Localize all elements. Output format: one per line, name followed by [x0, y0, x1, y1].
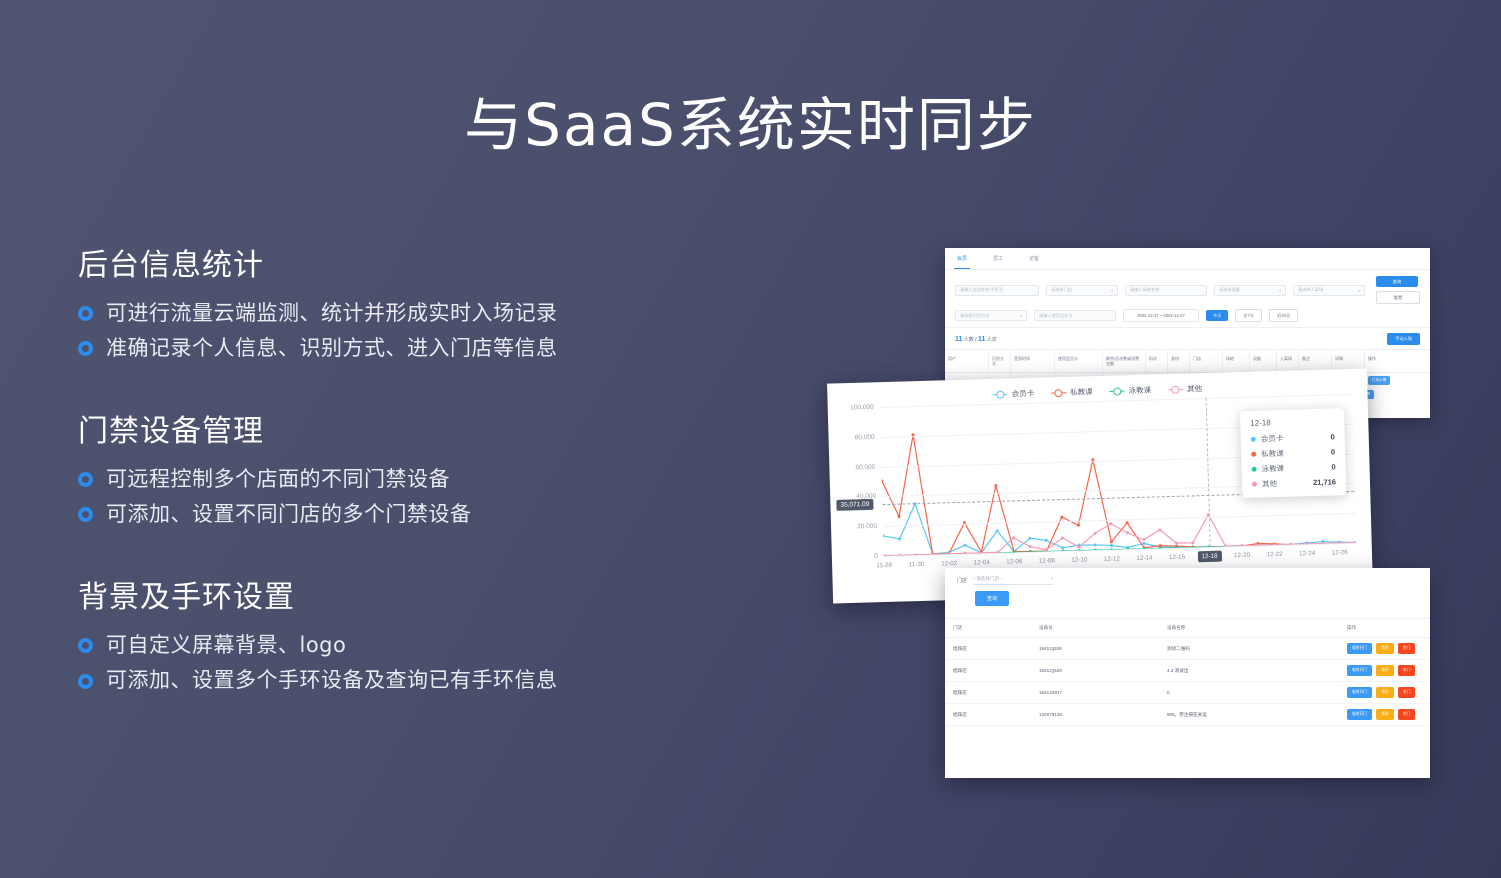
bullet-item: 可自定义屏幕背景、logo	[78, 634, 738, 657]
entry-exit-select[interactable]: 请选择入离场▾	[1293, 285, 1365, 296]
tooltip-label: 其他	[1262, 478, 1277, 489]
quick-range-30days[interactable]: 近30天	[1269, 309, 1298, 322]
close-door-button[interactable]: 关门	[1398, 709, 1416, 720]
legend-label: 泳教课	[1128, 385, 1151, 397]
x-axis-tick: 12-26	[1332, 549, 1348, 556]
col-store: 门店	[945, 619, 1031, 637]
cell-operation: 临时开门常开关门	[1339, 665, 1430, 676]
chart-plot-area: 020,00040,00060,00080,000100,000 35,071.…	[838, 394, 1363, 583]
x-axis-tick: 12-10	[1071, 556, 1087, 563]
series-point	[994, 484, 997, 487]
placeholder-text: 请选择设备	[1219, 287, 1240, 293]
entry-stats: 11 人数 / 11 人次	[955, 336, 997, 343]
device-select[interactable]: 请选择设备▾	[1214, 285, 1286, 296]
tooltip-value: 0	[1320, 432, 1334, 441]
tooltip-title: 12-18	[1250, 416, 1334, 427]
col-identity: 身份	[1168, 350, 1190, 372]
date-range-picker[interactable]: 2022-12-27 ~ 2022-12-27	[1123, 309, 1199, 322]
store-select[interactable]: 请选择门店▾	[1046, 285, 1118, 296]
filter-row-1: 请输入会员姓名/手机号 请选择门店▾ 请输入场地名称 请选择设备▾ 请选择入离场…	[955, 276, 1420, 304]
col-store: 门店	[1190, 350, 1223, 372]
col-deduct: 扣次	[1146, 350, 1168, 372]
placeholder-text: 请选择入离场	[1298, 287, 1323, 293]
always-open-button[interactable]: 常开	[1376, 665, 1394, 676]
tooltip-row: 私教课 0	[1251, 446, 1335, 459]
bullet-text: 可自定义屏幕背景、logo	[106, 634, 346, 657]
tab-visitors[interactable]: 访客	[1029, 248, 1039, 269]
legend-item-swim[interactable]: 泳教课	[1109, 385, 1151, 397]
tab-members[interactable]: 会员	[957, 248, 967, 269]
close-door-button[interactable]: 关门	[1398, 687, 1416, 698]
bullet-item: 准确记录个人信息、识别方式、进入门店等信息	[78, 337, 738, 360]
y-axis-tick: 20,000	[857, 523, 877, 531]
tooltip-row: 会员卡 0	[1251, 431, 1335, 444]
tab-staff[interactable]: 员工	[993, 248, 1003, 269]
bullet-item: 可进行流量云端监测、统计并形成实时入场记录	[78, 302, 738, 325]
legend-label: 其他	[1187, 383, 1202, 394]
placeholder-text: 请输入场地名称	[1130, 287, 1159, 293]
admin-stat-bar: 11 人数 / 11 人次 手动入场	[945, 328, 1430, 349]
y-axis-tick: 0	[874, 553, 878, 560]
cell-device-id: 19412ვ536	[1031, 646, 1159, 652]
ring-bullet-icon	[78, 341, 93, 356]
membership-card-input[interactable]: 请输入使用会员卡	[1034, 310, 1116, 321]
quick-range-7days[interactable]: 近7天	[1235, 309, 1262, 322]
venue-name-input[interactable]: 请输入场地名称	[1125, 285, 1207, 296]
cell-operation: 临时开门常开关门	[1339, 687, 1430, 698]
table-row: 旭辉店132979136908，原注册在关运临时开门常开关门	[945, 704, 1430, 726]
y-axis-tick: 100,000	[850, 404, 874, 412]
bullet-item: 可添加、设置不同门店的多个门禁设备	[78, 503, 738, 526]
filter-row-2: 请选择识别方式▾ 请输入使用会员卡 2022-12-27 ~ 2022-12-2…	[955, 309, 1420, 322]
tooltip-value: 21,716	[1303, 477, 1336, 487]
col-checkin-time: 签到时间	[1011, 350, 1055, 372]
tooltip-row: 泳教课 0	[1251, 461, 1335, 474]
table-row: 旭辉店1941239170临时开门常开关门	[945, 682, 1430, 704]
legend-item-pt[interactable]: 私教课	[1051, 386, 1093, 398]
bullet-text: 可添加、设置不同门店的多个门禁设备	[106, 503, 472, 526]
ring-bullet-icon	[78, 507, 93, 522]
legend-line-marker-icon	[1051, 388, 1066, 397]
series-dot-icon	[1252, 467, 1257, 472]
cell-device-name: 4.4 测试出	[1159, 668, 1339, 674]
x-axis-tick: 12-02	[941, 560, 957, 567]
placeholder-text: --请选择门店--	[973, 576, 1002, 582]
member-name-input[interactable]: 请输入会员姓名/手机号	[955, 285, 1039, 296]
placeholder-text: 请选择识别方式	[960, 313, 989, 319]
col-remaining: 剩余/总次数或消费金额	[1103, 350, 1146, 372]
ring-bullet-icon	[78, 674, 93, 689]
x-axis-tick: 12-20	[1234, 552, 1250, 559]
search-button[interactable]: 查询	[1376, 276, 1418, 287]
always-open-button[interactable]: 常开	[1376, 687, 1394, 698]
recognition-method-select[interactable]: 请选择识别方式▾	[955, 310, 1027, 321]
x-axis-tick: 12-24	[1299, 550, 1315, 557]
legend-label: 私教课	[1070, 386, 1093, 398]
tooltip-label: 私教课	[1261, 448, 1284, 460]
reset-button[interactable]: 重置	[1376, 291, 1420, 304]
feature-section-3: 背景及手环设置 可自定义屏幕背景、logo 可添加、设置多个手环设备及查询已有手…	[78, 572, 738, 692]
bullet-text: 可远程控制多个店面的不同门禁设备	[106, 468, 450, 491]
x-axis-tick: 12-22	[1266, 551, 1282, 558]
always-open-button[interactable]: 常开	[1376, 709, 1394, 720]
col-user: 用户	[945, 350, 989, 372]
cell-device-id: 194123917	[1031, 690, 1159, 695]
chart-tooltip: 12-18 会员卡 0 私教课 0 泳教课 0	[1240, 408, 1346, 498]
tooltip-label: 会员卡	[1261, 433, 1284, 445]
section-heading-1: 后台信息统计	[78, 240, 738, 284]
temp-open-button[interactable]: 临时开门	[1347, 709, 1372, 720]
ring-bullet-icon	[78, 306, 93, 321]
x-axis-tick: 12-08	[1039, 557, 1055, 564]
feature-section-1: 后台信息统计 可进行流量云端监测、统计并形成实时入场记录 准确记录个人信息、识别…	[78, 240, 738, 360]
feature-section-2: 门禁设备管理 可远程控制多个店面的不同门禁设备 可添加、设置不同门店的多个门禁设…	[78, 406, 738, 526]
bullet-item: 可添加、设置多个手环设备及查询已有手环信息	[78, 669, 738, 692]
series-dot-icon	[1252, 482, 1257, 487]
col-device-id: 设备号	[1031, 619, 1159, 637]
y-axis-tick: 80,000	[855, 434, 875, 442]
bullet-text: 可添加、设置多个手环设备及查询已有手环信息	[106, 669, 558, 692]
cell-store: 旭辉店	[945, 646, 1031, 652]
cell-store: 旭辉店	[945, 668, 1031, 674]
col-venue: 场地	[1223, 350, 1250, 372]
cell-device-name: 测试二维码	[1159, 646, 1339, 652]
chart-marker-label: 35,071.09	[836, 499, 873, 511]
col-recognition: 识别方式	[989, 350, 1011, 372]
tooltip-label: 泳教课	[1261, 463, 1284, 475]
x-axis-tick: 12-06	[1006, 558, 1022, 565]
ring-bullet-icon	[78, 638, 93, 653]
chevron-down-icon: ▾	[1279, 288, 1281, 293]
legend-label: 会员卡	[1011, 388, 1034, 400]
cell-device-name: 908，原注册在关运	[1159, 712, 1339, 718]
store-filter-select[interactable]: --请选择门店-- ▾	[973, 576, 1053, 585]
x-axis-tick-selected: 12-18	[1197, 551, 1221, 563]
tooltip-row: 其他 21,716	[1252, 476, 1336, 489]
temp-open-button[interactable]: 临时开门	[1347, 687, 1372, 698]
bullet-item: 可远程控制多个店面的不同门禁设备	[78, 468, 738, 491]
people-count: 11	[955, 336, 962, 343]
cell-device-id: 132979136	[1031, 712, 1159, 717]
screenshot-cluster: 会员 员工 访客 请输入会员姓名/手机号 请选择门店▾ 请输入场地名称 请选择设…	[830, 248, 1440, 778]
page-title: 与SaaS系统实时同步	[0, 78, 1501, 162]
chevron-down-icon: ▾	[1051, 576, 1053, 582]
legend-line-marker-icon	[1109, 386, 1124, 395]
close-door-button[interactable]: 关门	[1398, 643, 1416, 654]
series-point	[1094, 543, 1097, 546]
device-panel-screenshot: 门店 --请选择门店-- ▾ 查询 门店 设备号 设备名称 操作 旭辉店1941…	[945, 568, 1430, 778]
device-table-body: 旭辉店19412ვ536测试二维码临时开门常开关门旭辉店19412ვ5284.4…	[945, 638, 1430, 726]
table-row: 旭辉店19412ვ536测试二维码临时开门常开关门	[945, 638, 1430, 660]
y-axis-tick: 60,000	[855, 463, 875, 471]
x-axis-tick: 11-30	[909, 561, 925, 568]
x-axis-tick: 11-28	[876, 562, 892, 569]
col-entry-exit: 入离场	[1277, 350, 1299, 372]
device-filter-row: 门店 --请选择门店-- ▾	[945, 568, 1430, 585]
close-door-button[interactable]: 关门	[1398, 665, 1416, 676]
section-heading-2: 门禁设备管理	[78, 406, 738, 450]
series-dot-icon	[1251, 452, 1256, 457]
x-axis-tick: 12-16	[1169, 554, 1185, 561]
legend-line-marker-icon	[993, 390, 1008, 399]
legend-line-marker-icon	[1168, 385, 1183, 394]
admin-tabs: 会员 员工 访客	[945, 248, 1430, 270]
bullet-text: 准确记录个人信息、识别方式、进入门店等信息	[106, 337, 558, 360]
col-operation: 操作	[1365, 350, 1405, 372]
cell-store: 旭辉店	[945, 690, 1031, 696]
legend-item-membership[interactable]: 会员卡	[992, 388, 1034, 400]
table-row: 旭辉店19412ვ5284.4 测试出临时开门常开关门	[945, 660, 1430, 682]
manual-entry-button[interactable]: 手动入场	[1387, 333, 1420, 345]
device-table: 门店 设备号 设备名称 操作 旭辉店19412ვ536测试二维码临时开门常开关门…	[945, 618, 1430, 726]
temp-open-button[interactable]: 临时开门	[1347, 643, 1372, 654]
x-axis-tick: 12-04	[974, 559, 990, 566]
col-card-used: 使用会员卡	[1055, 350, 1103, 372]
col-device: 设备	[1250, 350, 1277, 372]
store-filter-label: 门店	[957, 577, 967, 584]
tooltip-value: 0	[1321, 462, 1335, 471]
col-device-name: 设备名称	[1159, 619, 1339, 637]
visits-unit: 人次	[987, 337, 997, 343]
slide-root: 与SaaS系统实时同步 后台信息统计 可进行流量云端监测、统计并形成实时入场记录…	[0, 0, 1501, 878]
placeholder-text: 请选择门店	[1051, 287, 1072, 293]
section-heading-3: 背景及手环设置	[78, 572, 738, 616]
filter-action-buttons: 查询 重置	[1376, 276, 1420, 304]
chart-y-axis: 020,00040,00060,00080,000100,000	[838, 407, 882, 557]
bullet-text: 可进行流量云端监测、统计并形成实时入场记录	[106, 302, 558, 325]
series-point	[1142, 542, 1145, 545]
cell-device-name: 0	[1159, 690, 1339, 695]
admin-filter-area: 请输入会员姓名/手机号 请选择门店▾ 请输入场地名称 请选择设备▾ 请选择入离场…	[945, 270, 1430, 328]
cell-device-id: 19412ვ528	[1031, 668, 1159, 674]
visits-count: 11	[978, 336, 985, 343]
cell-operation: 临时开门常开关门	[1339, 709, 1430, 720]
print-receipt-button[interactable]: 打印小票	[1368, 376, 1390, 385]
placeholder-text: 请输入使用会员卡	[1039, 313, 1073, 319]
chevron-down-icon: ▾	[1358, 288, 1360, 293]
legend-item-other[interactable]: 其他	[1168, 383, 1202, 395]
device-search-button[interactable]: 查询	[975, 591, 1009, 606]
x-axis-tick: 12-14	[1136, 555, 1152, 562]
quick-range-today[interactable]: 今天	[1206, 310, 1228, 321]
placeholder-text: 请输入会员姓名/手机号	[960, 287, 1003, 293]
series-point	[1110, 544, 1113, 547]
always-open-button[interactable]: 常开	[1376, 643, 1394, 654]
series-dot-icon	[1251, 437, 1256, 442]
device-table-header: 门店 设备号 设备名称 操作	[945, 619, 1430, 638]
chevron-down-icon: ▾	[1111, 288, 1113, 293]
x-axis-tick: 12-12	[1104, 555, 1120, 562]
temp-open-button[interactable]: 临时开门	[1347, 665, 1372, 676]
feature-sections: 后台信息统计 可进行流量云端监测、统计并形成实时入场记录 准确记录个人信息、识别…	[78, 240, 738, 693]
ring-bullet-icon	[78, 472, 93, 487]
people-unit: 人数 /	[964, 337, 977, 343]
chevron-down-icon: ▾	[1020, 313, 1022, 318]
tooltip-value: 0	[1321, 447, 1335, 456]
cell-operation: 临时开门常开关门	[1339, 643, 1430, 654]
cell-store: 旭辉店	[945, 712, 1031, 718]
series-point	[882, 534, 885, 537]
col-operation: 操作	[1339, 619, 1430, 637]
